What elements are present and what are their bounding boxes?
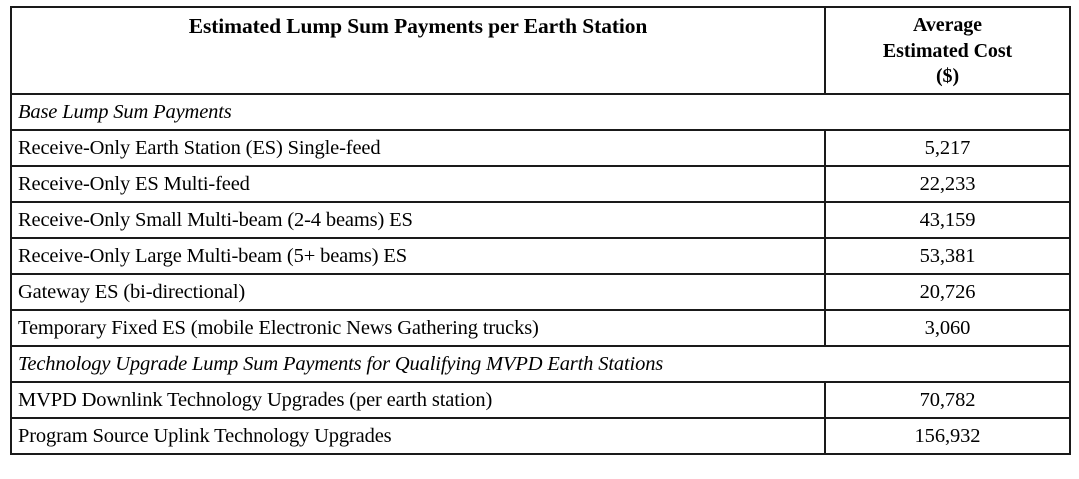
section-cell-base-lump-sum-payments: Base Lump Sum Payments [11, 94, 1070, 130]
estimated-lump-sum-payments-table: Estimated Lump Sum Payments per Earth St… [10, 6, 1071, 455]
header-cost-line-2: Estimated Cost [883, 40, 1012, 62]
table-header-row: Estimated Lump Sum Payments per Earth St… [11, 7, 1070, 94]
table-row: Program Source Uplink Technology Upgrade… [11, 418, 1070, 454]
row-cost-cell: 5,217 [825, 130, 1070, 166]
row-cost-cell: 3,060 [825, 310, 1070, 346]
row-cost-cell: 53,381 [825, 238, 1070, 274]
document-page: Estimated Lump Sum Payments per Earth St… [0, 0, 1079, 479]
cost-value: 20,726 [826, 275, 1069, 309]
item-label: Receive-Only Earth Station (ES) Single-f… [12, 131, 824, 165]
table-section-row: Technology Upgrade Lump Sum Payments for… [11, 346, 1070, 382]
cost-value: 70,782 [826, 383, 1069, 417]
table-row: Receive-Only Large Multi-beam (5+ beams)… [11, 238, 1070, 274]
header-cell-description: Estimated Lump Sum Payments per Earth St… [11, 7, 825, 94]
row-label-cell: MVPD Downlink Technology Upgrades (per e… [11, 382, 825, 418]
item-label: Receive-Only Small Multi-beam (2-4 beams… [12, 203, 824, 237]
cost-value: 3,060 [826, 311, 1069, 345]
row-cost-cell: 20,726 [825, 274, 1070, 310]
item-label: Receive-Only Large Multi-beam (5+ beams)… [12, 239, 824, 273]
cost-value: 156,932 [826, 419, 1069, 453]
item-label: MVPD Downlink Technology Upgrades (per e… [12, 383, 824, 417]
row-label-cell: Temporary Fixed ES (mobile Electronic Ne… [11, 310, 825, 346]
row-cost-cell: 70,782 [825, 382, 1070, 418]
row-cost-cell: 22,233 [825, 166, 1070, 202]
cost-value: 43,159 [826, 203, 1069, 237]
section-title-technology-upgrade-lump-sum-payments: Technology Upgrade Lump Sum Payments for… [12, 347, 1069, 381]
header-cost-label: Average Estimated Cost ($) [826, 8, 1069, 90]
row-cost-cell: 156,932 [825, 418, 1070, 454]
row-label-cell: Receive-Only Large Multi-beam (5+ beams)… [11, 238, 825, 274]
table-row: Temporary Fixed ES (mobile Electronic Ne… [11, 310, 1070, 346]
row-label-cell: Receive-Only Small Multi-beam (2-4 beams… [11, 202, 825, 238]
item-label: Receive-Only ES Multi-feed [12, 167, 824, 201]
table-section-row: Base Lump Sum Payments [11, 94, 1070, 130]
item-label: Gateway ES (bi-directional) [12, 275, 824, 309]
table-row: Receive-Only ES Multi-feed 22,233 [11, 166, 1070, 202]
header-cost-line-1: Average [913, 14, 982, 36]
table-row: MVPD Downlink Technology Upgrades (per e… [11, 382, 1070, 418]
table-row: Gateway ES (bi-directional) 20,726 [11, 274, 1070, 310]
item-label: Temporary Fixed ES (mobile Electronic Ne… [12, 311, 824, 345]
header-cost-line-3: ($) [936, 65, 959, 87]
table-row: Receive-Only Small Multi-beam (2-4 beams… [11, 202, 1070, 238]
section-cell-technology-upgrade-lump-sum-payments: Technology Upgrade Lump Sum Payments for… [11, 346, 1070, 382]
cost-value: 5,217 [826, 131, 1069, 165]
header-cell-cost: Average Estimated Cost ($) [825, 7, 1070, 94]
row-label-cell: Program Source Uplink Technology Upgrade… [11, 418, 825, 454]
row-cost-cell: 43,159 [825, 202, 1070, 238]
cost-value: 22,233 [826, 167, 1069, 201]
row-label-cell: Gateway ES (bi-directional) [11, 274, 825, 310]
cost-value: 53,381 [826, 239, 1069, 273]
item-label: Program Source Uplink Technology Upgrade… [12, 419, 824, 453]
header-description-label: Estimated Lump Sum Payments per Earth St… [12, 8, 824, 40]
section-title-base-lump-sum-payments: Base Lump Sum Payments [12, 95, 1069, 129]
row-label-cell: Receive-Only Earth Station (ES) Single-f… [11, 130, 825, 166]
row-label-cell: Receive-Only ES Multi-feed [11, 166, 825, 202]
table-row: Receive-Only Earth Station (ES) Single-f… [11, 130, 1070, 166]
